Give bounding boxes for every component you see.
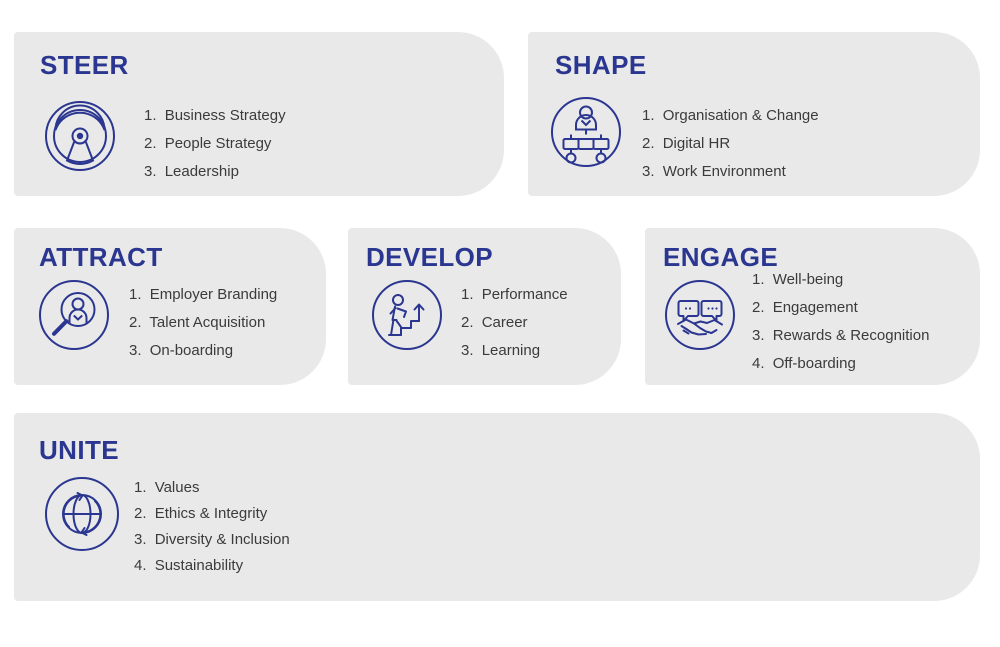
list-item: 1. Business Strategy xyxy=(144,102,286,130)
list-item: 1. Performance xyxy=(461,281,568,309)
list-item-label: Digital HR xyxy=(663,135,731,152)
list-item-number: 2. xyxy=(144,130,157,158)
card-develop[interactable]: DEVELOP xyxy=(348,228,621,385)
list-item: 4. Sustainability xyxy=(134,553,290,579)
hr-framework-diagram: STEER 1. Business Strategy 2. People Str… xyxy=(0,0,1000,647)
item-list-develop: 1. Performance 2. Career 3. Learning xyxy=(461,281,568,365)
list-item-label: Diversity & Inclusion xyxy=(155,531,290,548)
item-list-engage: 1. Well-being 2. Engagement 3. Rewards &… xyxy=(752,266,929,378)
list-item-label: Learning xyxy=(482,342,540,359)
card-unite[interactable]: UNITE 1. Values 2. Ethics xyxy=(14,413,980,601)
list-item-number: 3. xyxy=(461,337,474,365)
list-item: 4. Off-boarding xyxy=(752,350,929,378)
magnifier-person-icon xyxy=(37,278,111,352)
list-item-label: Sustainability xyxy=(155,557,243,574)
list-item-number: 1. xyxy=(144,102,157,130)
handshake-speech-bubbles-icon xyxy=(663,278,737,352)
card-attract[interactable]: ATTRACT 1. Employer Branding 2. Tal xyxy=(14,228,326,385)
card-title-unite: UNITE xyxy=(39,435,119,466)
list-item-label: Organisation & Change xyxy=(663,107,819,124)
item-list-steer: 1. Business Strategy 2. People Strategy … xyxy=(144,102,286,186)
item-list-unite: 1. Values 2. Ethics & Integrity 3. Diver… xyxy=(134,475,290,579)
list-item: 2. Ethics & Integrity xyxy=(134,501,290,527)
list-item-number: 4. xyxy=(134,553,147,579)
list-item-label: Ethics & Integrity xyxy=(155,505,268,522)
card-engage[interactable]: ENGAGE xyxy=(645,228,980,385)
org-chart-icon xyxy=(550,96,622,168)
list-item-number: 1. xyxy=(129,281,142,309)
list-item-label: Leadership xyxy=(165,163,239,180)
list-item-label: Employer Branding xyxy=(150,286,278,303)
card-title-shape: SHAPE xyxy=(555,50,647,81)
list-item-label: People Strategy xyxy=(165,135,272,152)
card-steer[interactable]: STEER 1. Business Strategy 2. People Str… xyxy=(14,32,504,196)
card-title-develop: DEVELOP xyxy=(366,242,493,273)
list-item-number: 4. xyxy=(752,350,765,378)
card-shape[interactable]: SHAPE xyxy=(528,32,980,196)
card-title-attract: ATTRACT xyxy=(39,242,163,273)
list-item-label: Rewards & Recognition xyxy=(773,327,930,344)
list-item: 2. Career xyxy=(461,309,568,337)
list-item-label: Off-boarding xyxy=(773,355,856,372)
list-item-label: Engagement xyxy=(773,299,858,316)
list-item: 2. Talent Acquisition xyxy=(129,309,277,337)
list-item: 2. Digital HR xyxy=(642,130,819,158)
steering-wheel-icon xyxy=(44,100,116,172)
list-item-label: Values xyxy=(155,479,200,496)
list-item-number: 1. xyxy=(642,102,655,130)
list-item-number: 3. xyxy=(134,527,147,553)
list-item-number: 3. xyxy=(129,337,142,365)
list-item-label: Well-being xyxy=(773,271,844,288)
list-item-number: 1. xyxy=(134,475,147,501)
list-item-number: 2. xyxy=(642,130,655,158)
list-item: 1. Well-being xyxy=(752,266,929,294)
list-item: 3. Leadership xyxy=(144,158,286,186)
list-item: 3. On-boarding xyxy=(129,337,277,365)
list-item-number: 2. xyxy=(129,309,142,337)
list-item-number: 1. xyxy=(752,266,765,294)
list-item: 3. Learning xyxy=(461,337,568,365)
list-item-number: 1. xyxy=(461,281,474,309)
list-item: 3. Rewards & Recognition xyxy=(752,322,929,350)
list-item-label: Work Environment xyxy=(663,163,786,180)
person-climbing-stairs-icon xyxy=(370,278,444,352)
card-title-steer: STEER xyxy=(40,50,129,81)
list-item: 3. Diversity & Inclusion xyxy=(134,527,290,553)
list-item: 2. Engagement xyxy=(752,294,929,322)
list-item-number: 3. xyxy=(752,322,765,350)
list-item: 1. Organisation & Change xyxy=(642,102,819,130)
list-item-label: On-boarding xyxy=(150,342,233,359)
list-item-label: Performance xyxy=(482,286,568,303)
globe-arrows-icon xyxy=(43,475,121,553)
list-item-label: Business Strategy xyxy=(165,107,286,124)
list-item-number: 3. xyxy=(144,158,157,186)
list-item: 1. Values xyxy=(134,475,290,501)
item-list-shape: 1. Organisation & Change 2. Digital HR 3… xyxy=(642,102,819,186)
list-item-label: Talent Acquisition xyxy=(149,314,265,331)
list-item: 2. People Strategy xyxy=(144,130,286,158)
item-list-attract: 1. Employer Branding 2. Talent Acquisiti… xyxy=(129,281,277,365)
list-item-number: 3. xyxy=(642,158,655,186)
list-item-number: 2. xyxy=(134,501,147,527)
list-item-number: 2. xyxy=(461,309,474,337)
list-item: 3. Work Environment xyxy=(642,158,819,186)
list-item-number: 2. xyxy=(752,294,765,322)
list-item: 1. Employer Branding xyxy=(129,281,277,309)
list-item-label: Career xyxy=(482,314,528,331)
